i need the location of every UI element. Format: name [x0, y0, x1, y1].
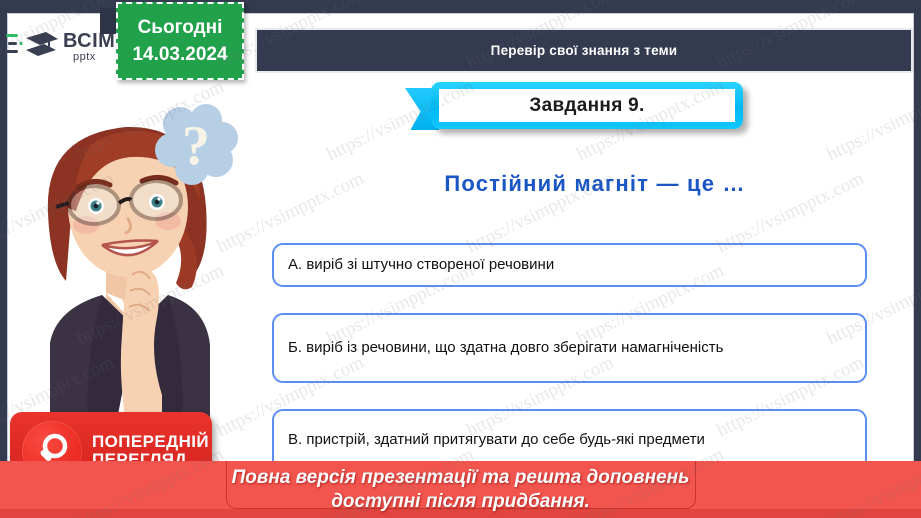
date-badge-label: Сьогодні — [138, 17, 223, 39]
notice-line-2: доступні після придбання. — [141, 490, 781, 514]
slide-header: Перевір свої знання з теми — [255, 28, 913, 73]
answer-option-a[interactable]: А. виріб зі штучно створеної речовини — [272, 243, 867, 287]
ribbon-body: Завдання 9. — [431, 82, 743, 129]
date-badge: Сьогодні 14.03.2024 — [116, 2, 244, 80]
answer-option-b[interactable]: Б. виріб із речовини, що здатна довго зб… — [272, 313, 867, 383]
brand-name: ВСІМ — [63, 31, 115, 51]
presentation-slide: ВСІМ pptx Сьогодні 14.03.2024 Перевір св… — [0, 0, 921, 518]
answer-option-a-label: А. виріб зі штучно створеної речовини — [288, 254, 554, 276]
task-ribbon: Завдання 9. — [405, 82, 750, 132]
date-badge-value: 14.03.2024 — [132, 44, 227, 66]
question-text: Постійний магніт — це … — [380, 162, 810, 206]
purchase-notice-text: Повна версія презентації та решта доповн… — [141, 466, 781, 514]
preview-button-line1: ПОПЕРЕДНІЙ — [92, 433, 209, 451]
answer-option-c-label: В. пристрій, здатний притягувати до себе… — [288, 429, 705, 451]
graduation-cap-icon — [6, 30, 58, 64]
notice-line-1: Повна версія презентації та решта доповн… — [141, 466, 781, 490]
task-number-label: Завдання 9. — [529, 95, 644, 117]
ribbon-inner-panel: Завдання 9. — [439, 89, 735, 122]
answer-option-b-label: Б. виріб із речовини, що здатна довго зб… — [288, 337, 723, 359]
svg-text:?: ? — [182, 115, 210, 177]
header-title: Перевір свої знання з теми — [491, 43, 678, 58]
brand-suffix: pptx — [73, 52, 115, 63]
purchase-notice-banner: Повна версія презентації та решта доповн… — [0, 461, 921, 518]
question-mark-bubble-icon: ? — [150, 98, 242, 190]
brand-wordmark: ВСІМ pptx — [63, 31, 115, 63]
